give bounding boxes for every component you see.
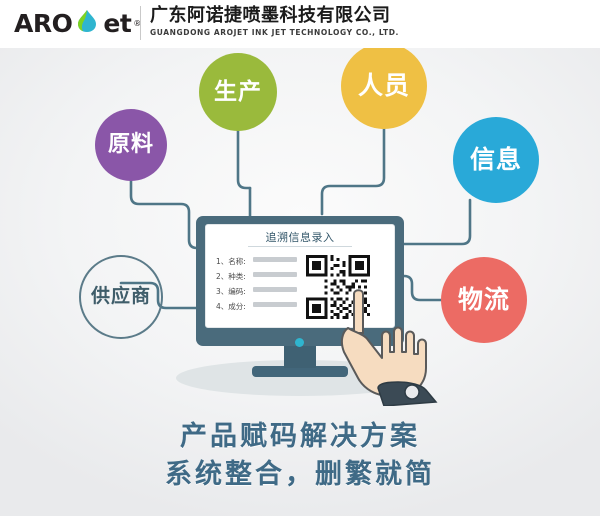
- bubble-label-supplier: 供应商: [91, 287, 151, 307]
- monitor-neck: [284, 346, 316, 368]
- bubble-personnel[interactable]: 人员: [341, 43, 427, 129]
- form-field-ingredients: 4、成分:: [216, 301, 246, 312]
- form-field-code: 3、编码:: [216, 286, 246, 297]
- poster-canvas: 原料 生产 人员 信息 供应商 物流 追溯信息录入 1、名称: 2、种类: 3、…: [0, 0, 600, 516]
- logo-divider: [140, 6, 141, 40]
- header-bar: ARO et ® 广东阿诺捷喷墨科技有限公司 GUANGDONG AROJET …: [0, 0, 600, 48]
- bubble-raw-material[interactable]: 原料: [95, 109, 167, 181]
- logo-text-left: ARO: [14, 11, 72, 36]
- bubble-supplier[interactable]: 供应商: [79, 255, 163, 339]
- slogan-line-1: 产品赋码解决方案: [0, 418, 600, 456]
- pointing-hand-icon: [338, 288, 456, 406]
- bubble-label-personnel: 人员: [358, 73, 410, 99]
- bubble-label-logistics: 物流: [458, 287, 510, 313]
- form-field-category: 2、种类:: [216, 271, 246, 282]
- company-name-cn: 广东阿诺捷喷墨科技有限公司: [150, 5, 399, 27]
- bubble-label-production: 生产: [214, 80, 262, 104]
- bubble-label-information: 信息: [470, 147, 522, 173]
- form-field-category-bar: [253, 272, 297, 277]
- form-field-name-bar: [253, 257, 297, 262]
- form-field-ingredients-bar: [253, 302, 297, 307]
- slogan-line-2: 系统整合，删繁就简: [0, 456, 600, 494]
- form-field-code-bar: [253, 287, 297, 292]
- logo-text-right: et: [103, 11, 131, 36]
- screen-title: 追溯信息录入: [205, 229, 395, 245]
- bubble-label-raw-material: 原料: [108, 133, 154, 156]
- monitor-power-led: [295, 338, 304, 347]
- form-field-name: 1、名称:: [216, 256, 246, 267]
- bubble-production[interactable]: 生产: [199, 53, 277, 131]
- screen-title-underline: [248, 246, 352, 247]
- slogan-block: 产品赋码解决方案 系统整合，删繁就简: [0, 418, 600, 494]
- inkjet-drop-icon: [74, 9, 100, 38]
- brand-logo[interactable]: ARO et ®: [14, 9, 141, 37]
- company-name-block: 广东阿诺捷喷墨科技有限公司 GUANGDONG AROJET INK JET T…: [150, 5, 399, 39]
- bubble-information[interactable]: 信息: [453, 117, 539, 203]
- company-name-en: GUANGDONG AROJET INK JET TECHNOLOGY CO.,…: [150, 27, 399, 39]
